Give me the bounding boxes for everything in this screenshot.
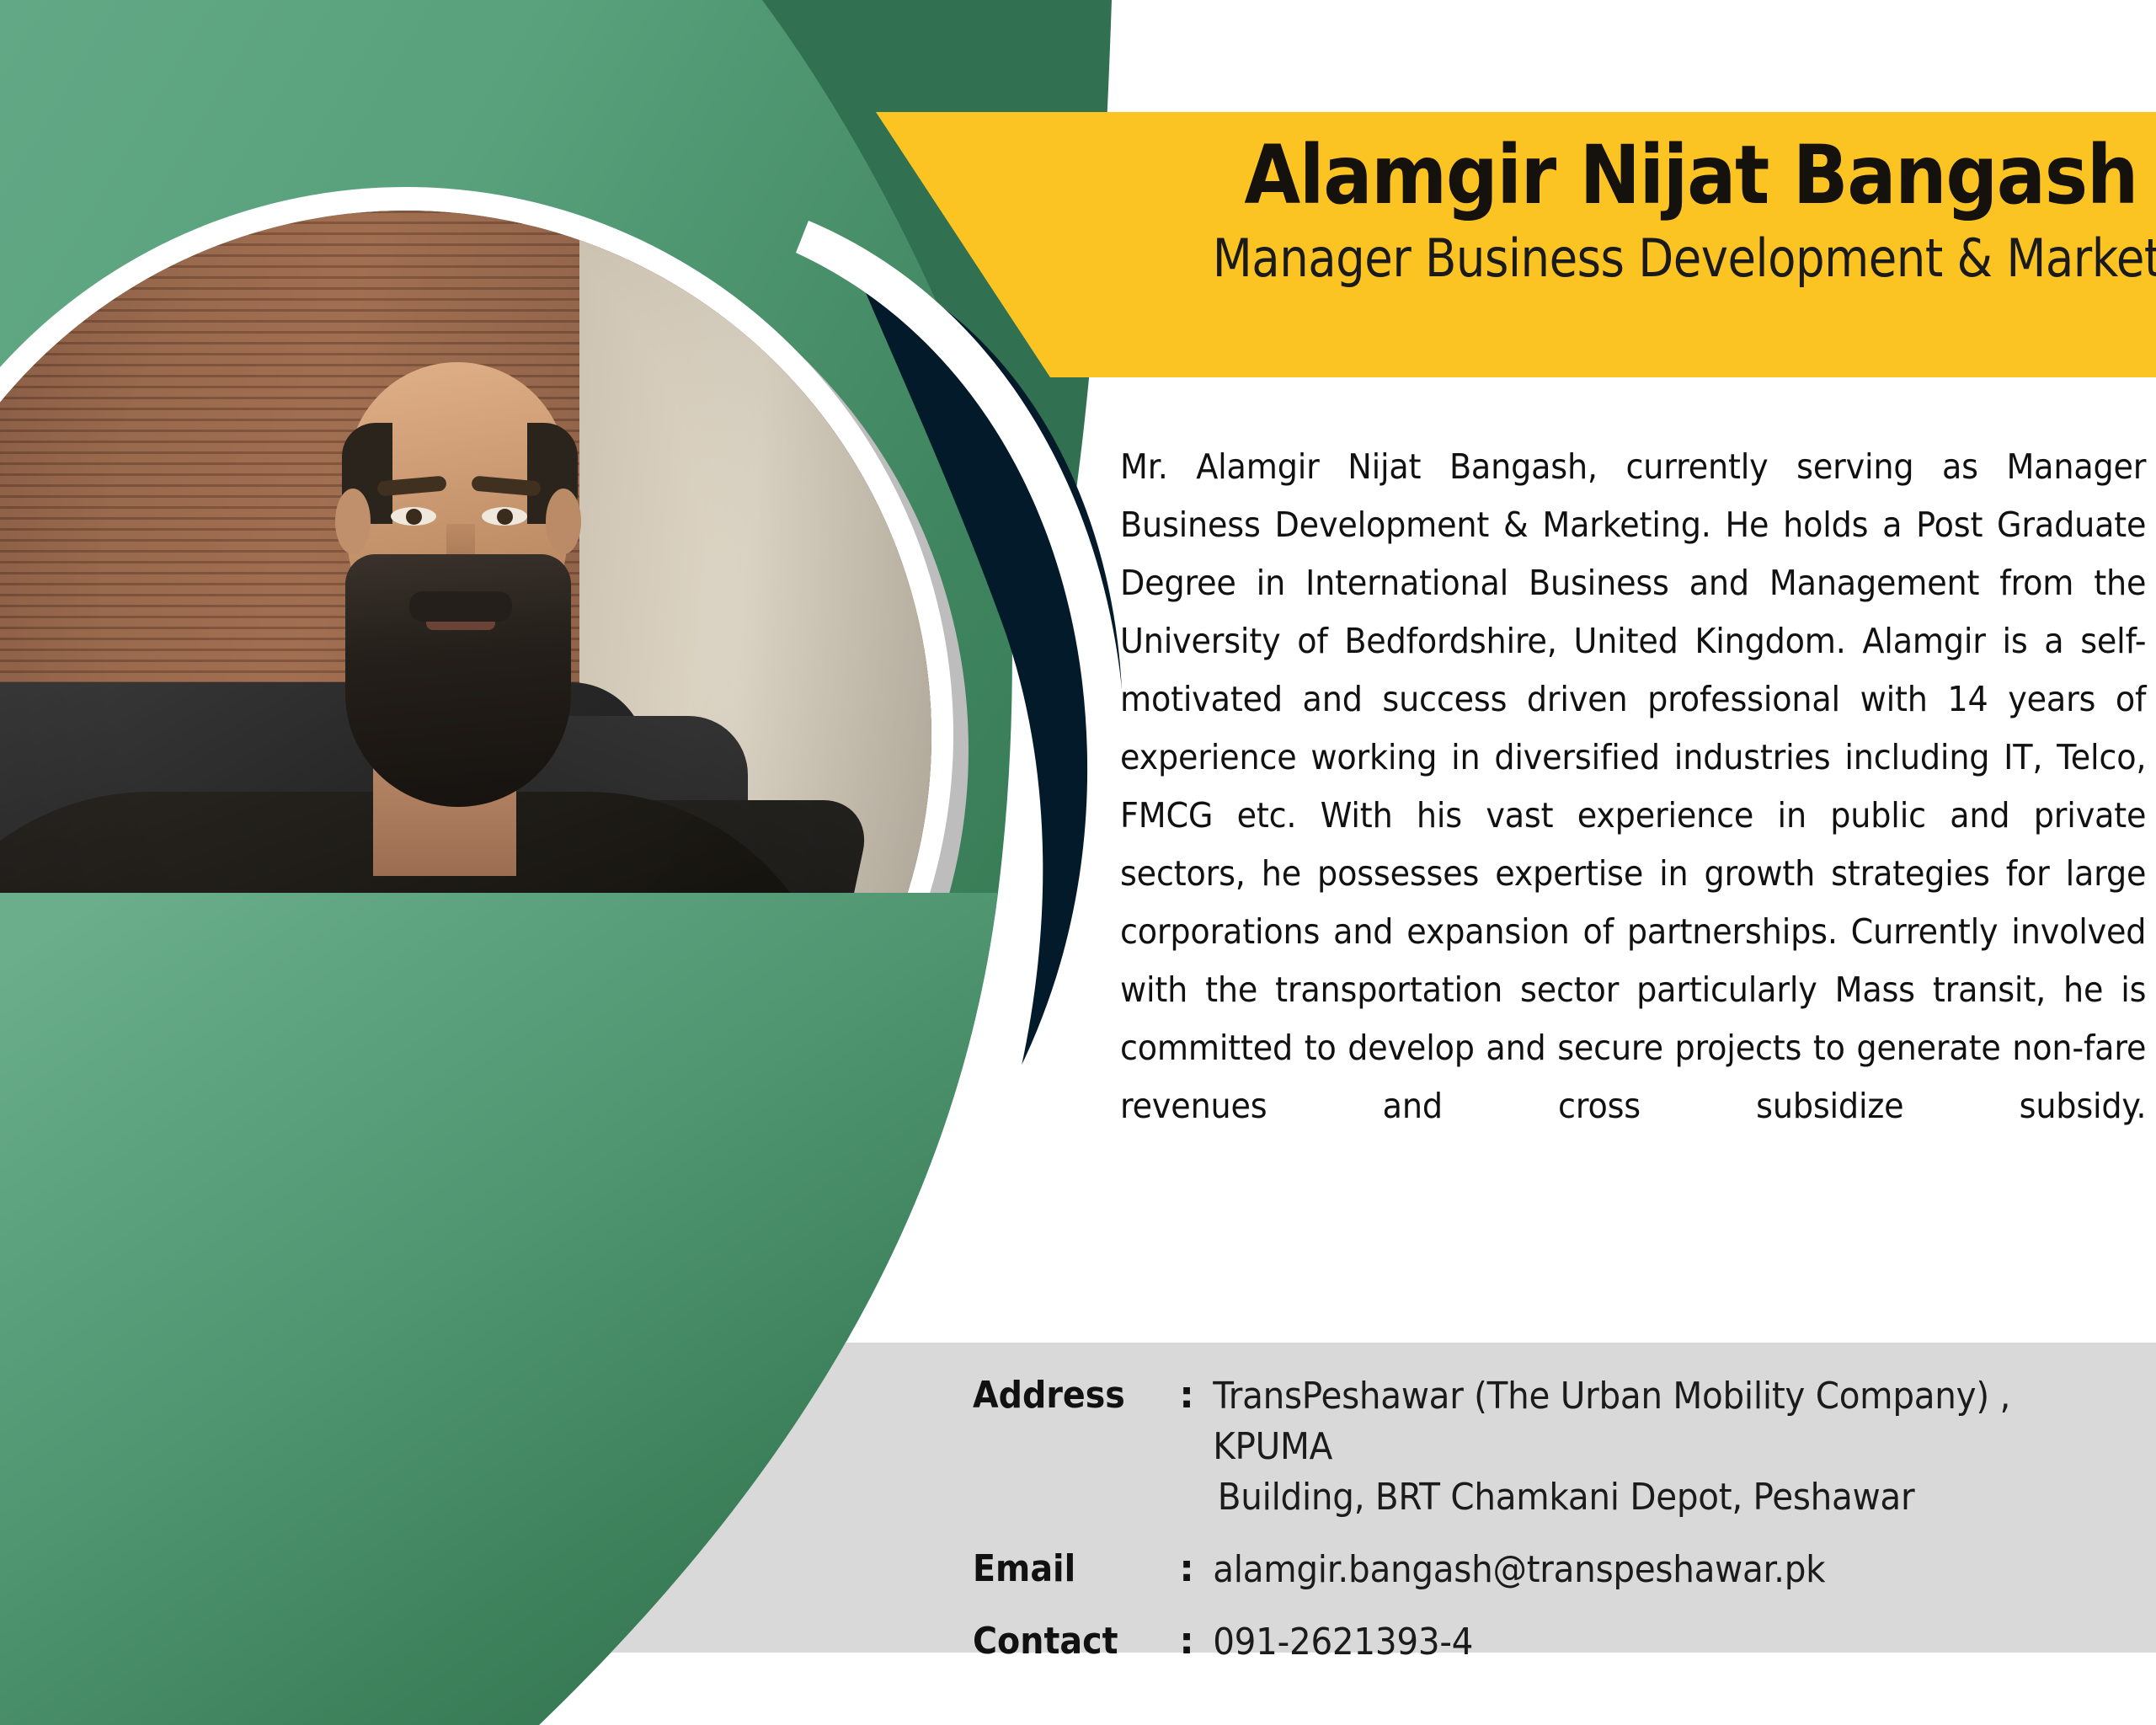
person-job-title: Manager Business Development & Marketing <box>1213 231 2137 287</box>
email-label: Email <box>973 1545 1149 1594</box>
profile-poster: Alamgir Nijat Bangash Manager Business D… <box>0 0 2156 1725</box>
contact-row-email: Email : alamgir.bangash@transpeshawar.pk <box>973 1545 2152 1595</box>
email-value[interactable]: alamgir.bangash@transpeshawar.pk <box>1205 1545 2076 1595</box>
contact-details: Address : TransPeshawar (The Urban Mobil… <box>973 1371 2152 1668</box>
portrait-photo <box>0 211 931 1262</box>
contact-colon: : <box>1168 1617 1205 1666</box>
address-line-1: TransPeshawar (The Urban Mobility Compan… <box>1213 1375 2010 1468</box>
contact-row-phone: Contact : 091-2621393-4 <box>973 1617 2152 1668</box>
address-value: TransPeshawar (The Urban Mobility Compan… <box>1205 1371 2076 1523</box>
address-colon: : <box>1168 1371 1205 1420</box>
contact-row-address: Address : TransPeshawar (The Urban Mobil… <box>973 1371 2152 1523</box>
address-label: Address <box>973 1371 1149 1420</box>
contact-value[interactable]: 091-2621393-4 <box>1205 1617 2076 1668</box>
contact-label: Contact <box>973 1617 1149 1666</box>
email-colon: : <box>1168 1545 1205 1594</box>
person-name: Alamgir Nijat Bangash <box>1192 135 2137 217</box>
address-line-2: Building, BRT Chamkani Depot, Peshawar <box>1213 1472 2076 1523</box>
biography-paragraph: Mr. Alamgir Nijat Bangash, currently ser… <box>1120 438 2146 1135</box>
photo-vignette <box>0 211 931 1262</box>
header-block: Alamgir Nijat Bangash Manager Business D… <box>1086 135 2156 287</box>
portrait-frame <box>0 187 953 1282</box>
